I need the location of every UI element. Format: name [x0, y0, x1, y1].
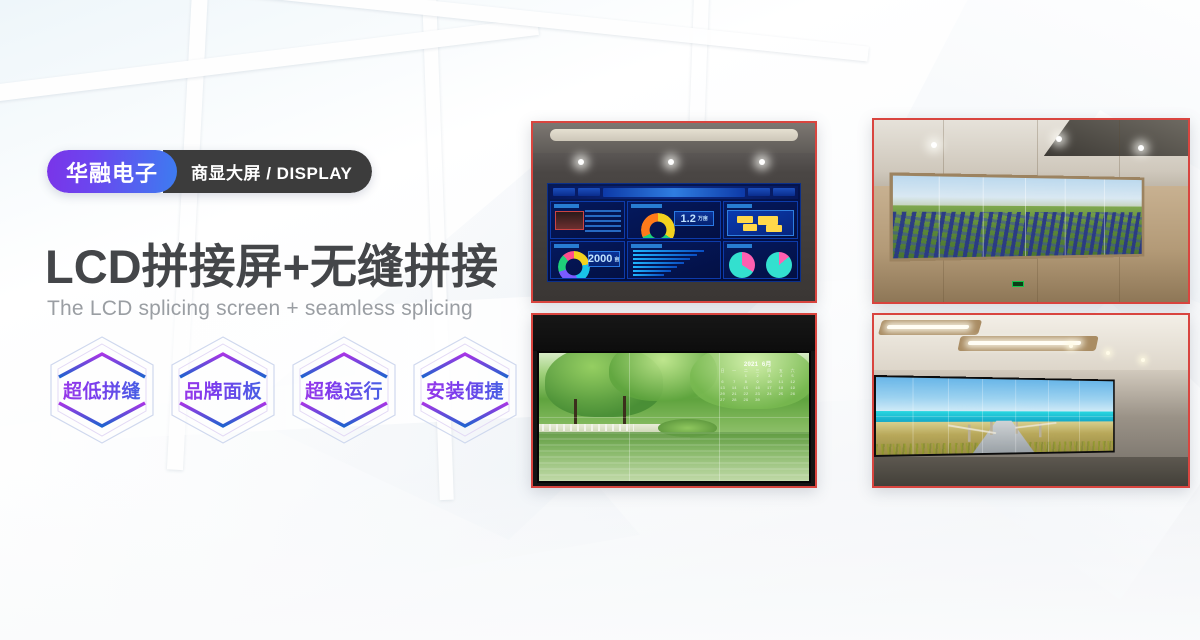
ceiling — [533, 315, 815, 351]
brand-category: 商显大屏 / DISPLAY — [163, 150, 372, 193]
calendar-day: 30 — [752, 399, 763, 404]
feature-badge-2-label: 品牌面板 — [164, 377, 282, 404]
video-wall-willow: 2021 6月 日 一 二 三 四 五 六 123456789101112131… — [537, 351, 811, 483]
lobby-scene — [874, 315, 1188, 486]
video-wall-solar — [890, 172, 1145, 261]
photo-beach-videowall — [872, 313, 1190, 488]
flow-node — [766, 225, 782, 232]
dashboard-panel-barchart — [627, 241, 721, 279]
calendar-title: 2021 6月 — [717, 361, 798, 369]
feature-badge-1-label: 超低拼缝 — [43, 377, 161, 404]
photo-solar-videowall — [872, 118, 1190, 304]
calendar-day: 22 — [740, 393, 751, 398]
ceiling-light — [968, 341, 1082, 345]
lake-water — [539, 432, 809, 481]
calendar-day — [776, 399, 787, 404]
calendar-day: 3 — [764, 375, 775, 380]
calendar-day: 15 — [740, 387, 751, 392]
dashboard-panel-flow — [723, 201, 798, 239]
page-subtitle: The LCD splicing screen + seamless splic… — [47, 297, 473, 321]
calendar-day: 4 — [776, 375, 787, 380]
flow-diagram — [727, 210, 794, 235]
calendar-overlay: 2021 6月 日 一 二 三 四 五 六 123456789101112131… — [717, 361, 798, 422]
headline-column: 华融电子 商显大屏 / DISPLAY LCD拼接屏+无缝拼接 The LCD … — [45, 0, 545, 640]
calendar-day: 24 — [764, 393, 775, 398]
floor — [874, 457, 1188, 486]
calendar-day: 12 — [787, 381, 798, 386]
calendar-day: 16 — [752, 387, 763, 392]
calendar-day: 26 — [787, 393, 798, 398]
calendar-day — [729, 375, 740, 380]
brand-name: 华融电子 — [47, 150, 177, 193]
feature-badge-2: 品牌面板 — [164, 333, 282, 447]
feature-badge-3-label: 超稳运行 — [285, 377, 403, 404]
calendar-day: 21 — [729, 393, 740, 398]
calendar-day: 17 — [764, 387, 775, 392]
sky — [876, 377, 1113, 412]
ceiling-spotlight — [578, 159, 584, 165]
ceiling-light-strip — [550, 129, 798, 141]
calendar-day-grid: 1234567891011121314151617181920212223242… — [717, 375, 798, 405]
calendar-day: 10 — [764, 381, 775, 386]
tree-trunk — [574, 399, 577, 427]
railing — [542, 424, 634, 430]
donut-chart — [558, 251, 590, 279]
kpi-value: 1.2 万亩 — [674, 211, 714, 226]
feature-badge-4: 安装便捷 — [406, 333, 524, 447]
tree-trunk — [623, 396, 626, 427]
feature-badge-list: 超低拼缝 品牌面板 超稳运行 — [43, 333, 524, 447]
calendar-day: 25 — [776, 393, 787, 398]
calendar-day — [787, 399, 798, 404]
photo-willow-lake-videowall: 2021 6月 日 一 二 三 四 五 六 123456789101112131… — [531, 313, 817, 488]
dashboard-title-bar — [603, 188, 745, 197]
donut-chart — [641, 213, 675, 239]
wood-room-scene — [874, 120, 1188, 302]
kpi2-unit: 亩 — [614, 256, 619, 263]
calendar-day: 23 — [752, 393, 763, 398]
kpi-value-secondary: 2000 亩 — [588, 251, 620, 266]
dashboard-nav-button — [748, 188, 770, 196]
dashboard-nav-button — [773, 188, 795, 196]
panel-text-lines — [585, 210, 622, 232]
bar-chart — [633, 250, 716, 276]
calendar-day — [764, 399, 775, 404]
flow-node — [758, 216, 778, 225]
flow-node — [743, 224, 757, 231]
dashboard-panel-pies — [723, 241, 798, 279]
pie-chart — [729, 252, 755, 278]
calendar-day: 5 — [787, 375, 798, 380]
calendar-day: 7 — [729, 381, 740, 386]
panel-thumbnail — [555, 211, 584, 230]
calendar-day: 11 — [776, 381, 787, 386]
calendar-day: 8 — [740, 381, 751, 386]
calendar-day: 28 — [729, 399, 740, 404]
feature-badge-3: 超稳运行 — [285, 333, 403, 447]
solar-panel-array — [890, 211, 1145, 257]
ceiling — [533, 123, 815, 153]
dashboard-topbar — [550, 186, 798, 199]
photo-dashboard-videowall: 1.2 万亩 2000 亩 — [531, 121, 817, 303]
calendar-day: 18 — [776, 387, 787, 392]
calendar-day: 2 — [752, 375, 763, 380]
kpi-number: 1.2 — [681, 213, 696, 225]
feature-badge-1: 超低拼缝 — [43, 333, 161, 447]
promo-banner: 华融电子 商显大屏 / DISPLAY LCD拼接屏+无缝拼接 The LCD … — [0, 0, 1200, 640]
lake-scene: 2021 6月 日 一 二 三 四 五 六 123456789101112131… — [539, 353, 809, 481]
pie-chart — [766, 252, 792, 278]
dashboard-room-scene: 1.2 万亩 2000 亩 — [533, 123, 815, 301]
kpi-unit: 万亩 — [698, 215, 708, 222]
dashboard-nav-button — [553, 188, 575, 196]
calendar-day: 14 — [729, 387, 740, 392]
dashboard-screen: 1.2 万亩 2000 亩 — [547, 183, 801, 283]
ceiling-light — [886, 325, 969, 329]
feature-badge-4-label: 安装便捷 — [406, 377, 524, 404]
page-title: LCD拼接屏+无缝拼接 — [45, 228, 498, 297]
dashboard-nav-button — [578, 188, 600, 196]
calendar-day: 19 — [787, 387, 798, 392]
exit-sign-icon — [1012, 281, 1024, 287]
kpi2-number: 2000 — [588, 253, 612, 265]
dashboard-panel-donut-kpi: 1.2 万亩 — [627, 201, 721, 239]
ceiling-spotlight — [668, 159, 674, 165]
brand-pill: 华融电子 商显大屏 / DISPLAY — [47, 150, 372, 193]
ceiling-spotlight — [759, 159, 765, 165]
dashboard-panel-donut-legend: 2000 亩 — [550, 241, 625, 279]
flow-node — [737, 216, 753, 223]
calendar-day: 1 — [740, 375, 751, 380]
calendar-day: 29 — [740, 399, 751, 404]
dark-room-scene: 2021 6月 日 一 二 三 四 五 六 123456789101112131… — [533, 315, 815, 486]
calendar-day: 9 — [752, 381, 763, 386]
video-wall-beach — [874, 375, 1115, 457]
pie-chart-group — [724, 254, 797, 275]
dashboard-panel-intro — [550, 201, 625, 239]
